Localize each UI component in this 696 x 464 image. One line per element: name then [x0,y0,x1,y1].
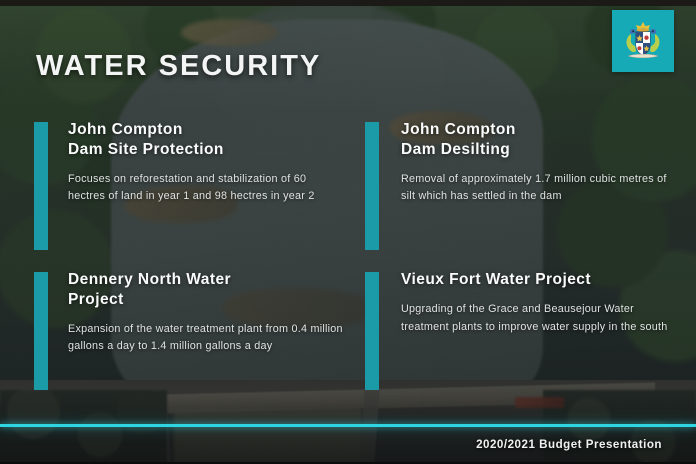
accent-bar [34,272,48,390]
accent-bar [365,272,379,390]
project-title: John Compton Dam Site Protection [68,120,334,160]
project-title-line-1: Dennery North Water [68,270,334,290]
slide-content: WATER SECURITY [0,0,696,464]
page-title: WATER SECURITY [36,50,321,83]
project-description: Upgrading of the Grace and Beausejour Wa… [401,301,669,336]
project-title-line-1: Vieux Fort Water Project [401,270,665,290]
project-card-john-compton-dam-desilting[interactable]: John Compton Dam Desilting Removal of ap… [365,120,665,206]
project-description: Removal of approximately 1.7 million cub… [401,171,669,206]
project-description: Expansion of the water treatment plant f… [68,321,354,356]
accent-bar [365,122,379,250]
project-title-line-2: Dam Desilting [401,140,665,160]
footer-caption: 2020/2021 Budget Presentation [476,438,662,451]
projects-grid: John Compton Dam Site Protection Focuses… [34,120,662,396]
project-title-line-1: John Compton [68,120,334,140]
project-card-vieux-fort-water-project[interactable]: Vieux Fort Water Project Upgrading of th… [365,270,665,336]
project-title: Dennery North Water Project [68,270,334,310]
project-card-dennery-north-water-project[interactable]: Dennery North Water Project Expansion of… [34,270,334,356]
coat-of-arms-icon [622,20,664,62]
project-title: Vieux Fort Water Project [401,270,665,290]
footer-divider-rule [0,424,696,427]
project-title-line-1: John Compton [401,120,665,140]
project-card-john-compton-dam-site-protection[interactable]: John Compton Dam Site Protection Focuses… [34,120,334,206]
project-title-line-2: Project [68,290,334,310]
project-description: Focuses on reforestation and stabilizati… [68,171,334,206]
coat-of-arms-logo [612,10,674,72]
presentation-slide: WATER SECURITY [0,0,696,464]
accent-bar [34,122,48,250]
project-title-line-2: Dam Site Protection [68,140,334,160]
project-title: John Compton Dam Desilting [401,120,665,160]
